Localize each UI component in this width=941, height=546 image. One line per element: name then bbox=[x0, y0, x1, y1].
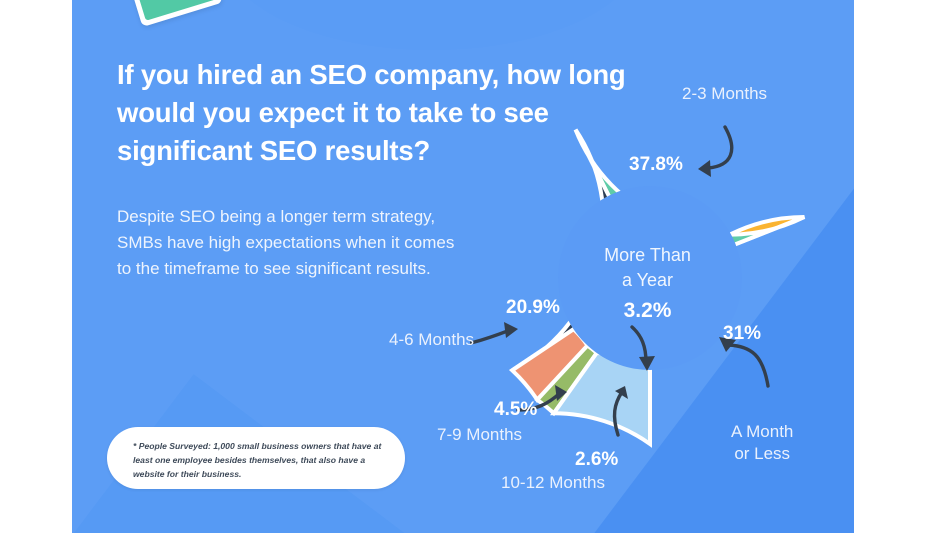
label-a-month-or-less-line1: A Month bbox=[731, 421, 793, 443]
label-4-6-months: 4-6 Months bbox=[389, 329, 474, 351]
page-subtitle: Despite SEO being a longer term strategy… bbox=[117, 204, 467, 282]
value-more-than-a-year: 3.2% bbox=[570, 299, 725, 323]
value-10-12-months: 2.6% bbox=[575, 449, 618, 471]
infographic-canvas: If you hired an SEO company, how long wo… bbox=[0, 0, 941, 546]
label-a-month-or-less-line2: or Less bbox=[731, 443, 793, 465]
donut-center-text: More Than a Year 3.2% bbox=[570, 243, 725, 323]
center-label-line2: a Year bbox=[570, 268, 725, 293]
footnote-pill: * People Surveyed: 1,000 small business … bbox=[107, 427, 405, 489]
value-4-6-months: 20.9% bbox=[506, 297, 560, 319]
value-7-9-months: 4.5% bbox=[494, 399, 537, 421]
arrow-2-3-months bbox=[708, 127, 732, 168]
arrow-a-month-or-less bbox=[728, 345, 768, 386]
arrowhead-2-3-months bbox=[698, 160, 711, 177]
center-label-line1: More Than bbox=[570, 243, 725, 268]
label-7-9-months: 7-9 Months bbox=[437, 424, 522, 446]
arrowhead-4-6-months bbox=[504, 322, 518, 338]
value-a-month-or-less: 31% bbox=[723, 323, 761, 345]
arrow-4-6-months bbox=[470, 330, 510, 352]
label-a-month-or-less: A Month or Less bbox=[731, 421, 793, 465]
label-10-12-months: 10-12 Months bbox=[501, 472, 605, 494]
footnote-text: * People Surveyed: 1,000 small business … bbox=[133, 439, 391, 481]
value-2-3-months: 37.8% bbox=[629, 154, 683, 176]
label-2-3-months: 2-3 Months bbox=[682, 83, 767, 105]
